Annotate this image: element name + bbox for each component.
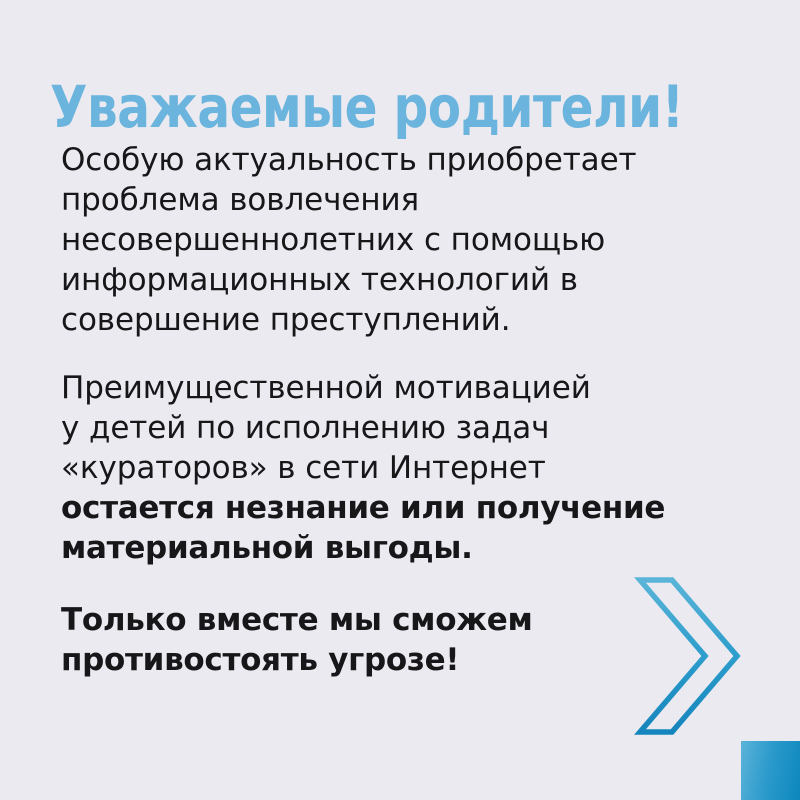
slide-canvas: Уважаемые родители! Особую актуальность … — [0, 0, 800, 800]
paragraph-1-line-1: Особую актуальность приобретает — [61, 140, 761, 180]
paragraph-1-line-2: проблема вовлечения — [61, 180, 761, 220]
paragraph-2-line-2: у детей по исполнению задач — [61, 408, 761, 448]
paragraph-2-line-4: остается незнание или получение — [61, 488, 761, 528]
paragraph-1-line-4: информационных технологий в — [61, 260, 761, 300]
paragraph-2: Преимущественной мотивацией у детей по и… — [61, 368, 761, 568]
paragraph-2-line-3: «кураторов» в сети Интернет — [61, 448, 761, 488]
paragraph-1-line-3: несовершеннолетних с помощью — [61, 220, 761, 260]
paragraph-2-line-5: материальной выгоды. — [61, 528, 761, 568]
page-title: Уважаемые родители! — [50, 75, 710, 139]
paragraph-2-line-1: Преимущественной мотивацией — [61, 368, 761, 408]
paragraph-1-line-5: совершение преступлений. — [61, 300, 761, 340]
corner-accent-square — [741, 741, 800, 800]
double-chevron-right-icon — [634, 570, 746, 742]
paragraph-1: Особую актуальность приобретает проблема… — [61, 140, 761, 340]
